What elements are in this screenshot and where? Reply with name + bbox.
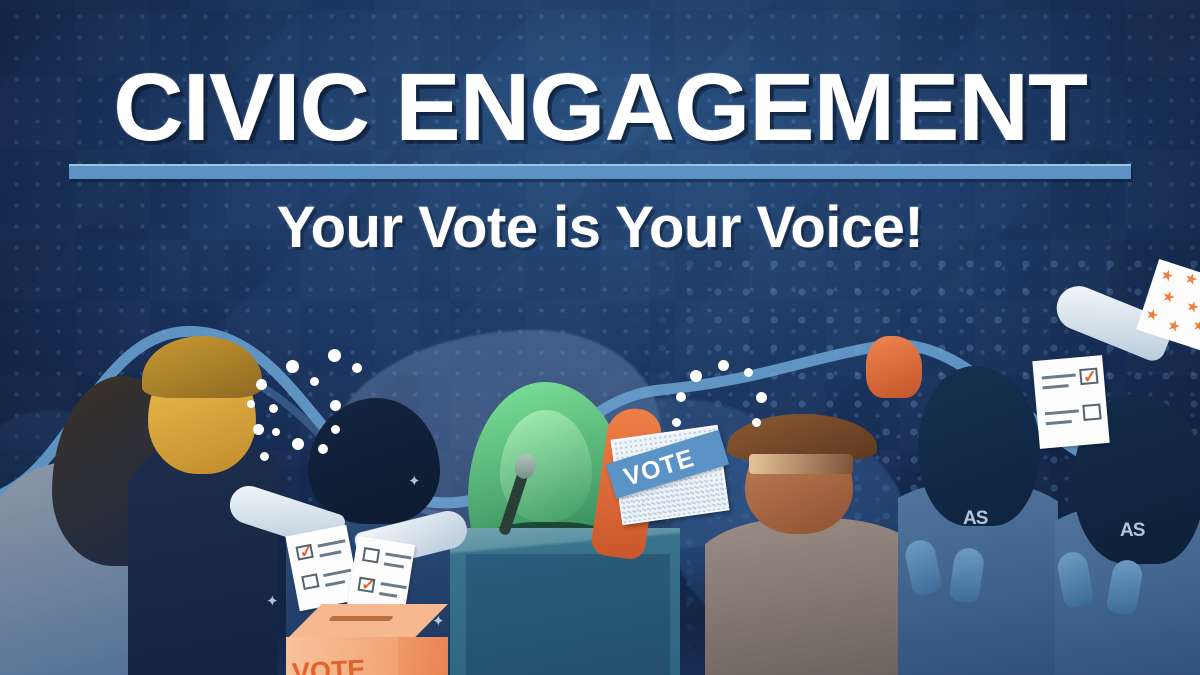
- star-icon: ★: [1160, 288, 1177, 306]
- decor-dot: [272, 428, 280, 436]
- decor-dot: [672, 418, 681, 427]
- decor-dot: [744, 368, 753, 377]
- decor-dot: [286, 360, 299, 373]
- decor-dot: [330, 400, 341, 411]
- sweatshirt-logo: AS: [1120, 520, 1144, 542]
- decor-dot: [292, 438, 304, 450]
- decor-dot: [269, 404, 278, 413]
- sparkle-icon: ✦: [408, 472, 421, 490]
- raised-fist-orange: [866, 336, 922, 398]
- decor-dot: [718, 360, 729, 371]
- decor-dot: [676, 392, 686, 402]
- decor-dot: [253, 424, 264, 435]
- checkmark-icon: ✓: [1082, 368, 1098, 386]
- ballot-paper-marked: ✓: [1032, 355, 1109, 449]
- decor-dot: [690, 370, 702, 382]
- page-subtitle: Your Vote is Your Voice!: [0, 199, 1200, 257]
- decor-dot: [310, 377, 319, 386]
- star-icon: ★: [1143, 306, 1160, 324]
- civic-engagement-banner: AS AS ✓ ✓ VOTE ✓: [0, 0, 1200, 675]
- star-icon: ★: [1165, 317, 1182, 335]
- sparkle-icon: ✦: [266, 592, 279, 610]
- podium: [450, 528, 680, 675]
- star-icon: ★: [1184, 298, 1200, 316]
- star-icon: ★: [1158, 267, 1175, 285]
- decor-dot: [328, 349, 341, 362]
- decor-dot: [318, 444, 328, 454]
- decor-dot: [352, 363, 362, 373]
- headline-block: CIVIC ENGAGEMENT Your Vote is Your Voice…: [0, 62, 1200, 257]
- decor-dot: [256, 379, 267, 390]
- decor-dot: [331, 425, 340, 434]
- vote-envelope: VOTE: [611, 425, 730, 525]
- ballot-box: VOTE: [286, 604, 448, 675]
- title-accent-bar: [69, 164, 1131, 179]
- checkmark-icon: ✓: [360, 577, 376, 595]
- ballot-box-label: VOTE: [291, 654, 366, 675]
- decor-dot: [752, 418, 761, 427]
- star-icon: ★: [1182, 270, 1199, 288]
- decor-dot: [260, 452, 269, 461]
- person-orange-duotone-hat: [705, 398, 920, 675]
- decor-dot: [247, 400, 255, 408]
- star-icon: ★: [1190, 317, 1200, 335]
- sweatshirt-logo: AS: [963, 508, 987, 530]
- decor-dot: [756, 392, 767, 403]
- checkmark-icon: ✓: [298, 544, 314, 562]
- page-title: CIVIC ENGAGEMENT: [0, 62, 1200, 154]
